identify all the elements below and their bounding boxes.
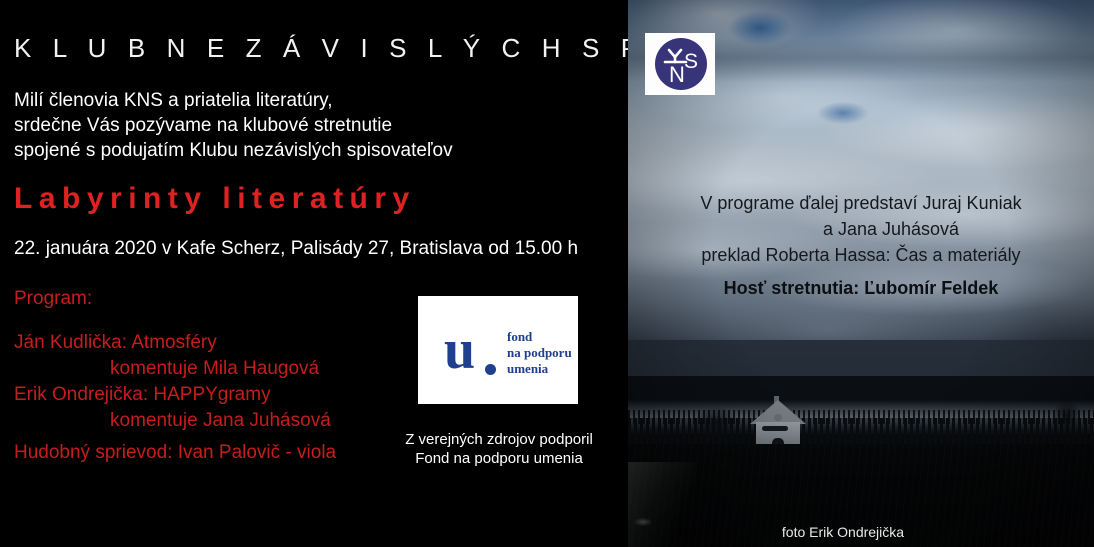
left-text-panel: K L U B N E Z Á V I S L Ý C H S P I S O … <box>0 0 628 547</box>
blue-sky-patch-secondary <box>808 96 878 130</box>
fpu-logo: u fond na podporu umenia <box>418 296 578 404</box>
page-title: K L U B N E Z Á V I S L Ý C H S P I S O … <box>14 33 628 64</box>
house-gable-ornament <box>774 414 782 421</box>
kns-logo: N S <box>645 33 715 95</box>
fpu-support-caption: Z verejných zdrojov podporil Fond na pod… <box>399 430 599 468</box>
svg-text:S: S <box>684 50 698 73</box>
svg-text:N: N <box>669 62 685 87</box>
intro-line-3: spojené s podujatím Klubu nezávislých sp… <box>14 138 453 163</box>
right-line-3: preklad Roberta Hassa: Čas a materiály <box>640 242 1082 268</box>
event-title: Labyrinty literatúry <box>14 182 416 216</box>
fpu-word-fond: fond <box>507 329 572 345</box>
guest-of-the-meeting: Hosť stretnutia: Ľubomír Feldek <box>628 278 1094 299</box>
music-accompaniment-line: Hudobný sprievod: Ivan Palovič - viola <box>14 442 336 464</box>
program-list: Ján Kudlička: Atmosféry komentuje Mila H… <box>14 330 331 434</box>
program-item: Erik Ondrejička: HAPPYgramy <box>14 384 271 405</box>
intro-line-1: Milí členovia KNS a priatelia literatúry… <box>14 88 453 113</box>
program-item: Ján Kudlička: Atmosféry <box>14 332 217 353</box>
fpu-caption-line-1: Z verejných zdrojov podporil <box>399 430 599 449</box>
additional-program-text: V programe ďalej predstaví Juraj Kuniak … <box>628 190 1094 268</box>
fpu-caption-line-2: Fond na podporu umenia <box>399 449 599 468</box>
photo-credit: foto Erik Ondrejička <box>628 524 1094 540</box>
fpu-dot-icon <box>485 364 496 375</box>
intro-line-2: srdečne Vás pozývame na klubové stretnut… <box>14 113 453 138</box>
invitation-poster: K L U B N E Z Á V I S L Ý C H S P I S O … <box>0 0 1094 547</box>
house-gable-vent <box>762 426 788 431</box>
program-item: komentuje Mila Haugová <box>14 356 331 382</box>
event-datetime-venue: 22. januára 2020 v Kafe Scherz, Palisády… <box>14 238 578 260</box>
right-line-1: V programe ďalej predstaví Juraj Kuniak <box>640 190 1082 216</box>
fpu-u-mark: u <box>444 323 475 377</box>
program-heading: Program: <box>14 288 92 310</box>
intro-paragraph: Milí členovia KNS a priatelia literatúry… <box>14 88 453 163</box>
right-line-2: a Jana Juhásová <box>640 216 1082 242</box>
kns-monogram-icon: N S <box>655 38 707 90</box>
fpu-wordmark: fond na podporu umenia <box>507 329 572 377</box>
program-item: komentuje Jana Juhásová <box>14 408 331 434</box>
dark-cloud-band <box>628 340 1094 376</box>
fpu-word-na-podporu: na podporu <box>507 345 572 361</box>
fpu-word-umenia: umenia <box>507 361 572 377</box>
